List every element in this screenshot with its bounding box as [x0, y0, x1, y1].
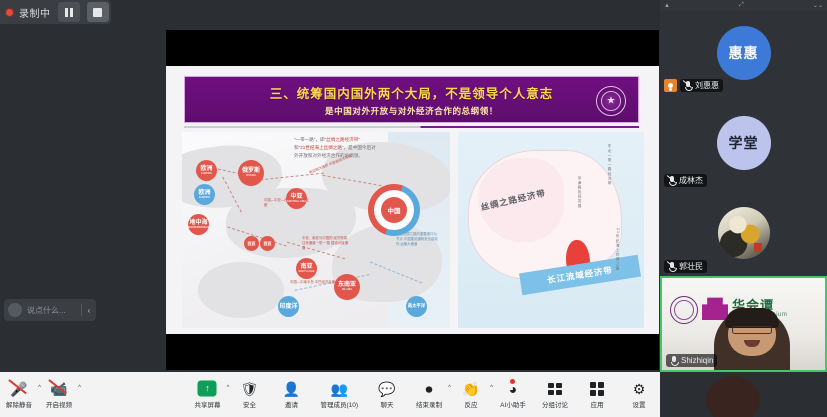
banner-underline: [184, 126, 639, 128]
participant-nameplate: Shizhiqin: [666, 354, 717, 367]
participant-name: 刘惠惠: [695, 80, 719, 91]
chat-button[interactable]: 💬 聊天: [374, 380, 400, 409]
chat-placeholder[interactable]: 说点什么...: [27, 305, 81, 316]
map-node-label: 南太平洋: [408, 304, 426, 308]
university-seal-icon: [670, 296, 698, 324]
shield-icon: 🛡: [241, 380, 259, 397]
participant-nameplate: 成林杰: [664, 174, 707, 187]
slide-body: “一带一路”，即“丝绸之路经济带” 和“21世纪海上丝绸之路”，是中国今后对 外…: [166, 130, 659, 334]
map-node-sublabel: CENTRAL ASIA: [287, 201, 306, 204]
avatar: 惠惠: [717, 26, 771, 80]
toolbar-label: 聊天: [381, 399, 394, 409]
chevron-left-icon[interactable]: ‹: [82, 306, 96, 315]
microphone-icon: [670, 356, 678, 366]
map-node-sublabel: RUSSIA: [246, 175, 256, 178]
participant-tile[interactable]: 学堂 成林杰: [660, 95, 827, 190]
note-line2-highlight: “21世纪海上丝绸之路”: [299, 145, 344, 150]
note-line1-prefix: “一带一路”，即: [294, 137, 325, 142]
recording-label: 录制中: [19, 5, 51, 20]
map-node-sublabel: SOUTH ASIA: [299, 271, 315, 274]
rail-controls: ▲ ⤢ ⌄⌄: [660, 0, 827, 11]
participant-tile[interactable]: 郭壮民: [660, 190, 827, 276]
avatar-initials: 学堂: [729, 133, 759, 153]
map-node-russia: 俄罗斯 RUSSIA: [238, 160, 264, 186]
pause-recording-button[interactable]: [58, 2, 80, 22]
speaker-hair: [725, 308, 779, 328]
manage-participants-button[interactable]: 👥 管理成员(10): [320, 380, 358, 409]
recording-dot-icon: [5, 8, 14, 17]
microphone-muted-icon: [668, 262, 676, 272]
microphone-muted-icon: [668, 176, 676, 186]
map-node-west-asia-a: 西亚: [244, 236, 259, 251]
toolbar-center-group: 共享屏幕 ^ 🛡 安全 👤 邀请 👥 管理成员(10) 💬 聊天 ⏺: [72, 380, 660, 409]
map-node-southeast-asia: 东南亚 SE ASIA: [334, 274, 360, 300]
active-speaker-tile[interactable]: 华会谭 ghua Symposium Shizhiqin: [660, 276, 827, 372]
map-node-label: 地中海: [189, 220, 207, 226]
apps-button[interactable]: 应用: [584, 380, 610, 409]
chevron-up-icon[interactable]: ^: [38, 385, 41, 391]
map-node-europe-sea: 欧洲 EUROPE: [194, 184, 215, 205]
participant-name: Shizhiqin: [681, 356, 713, 365]
toolbar-label: AI小助手: [500, 399, 526, 409]
invite-button[interactable]: 👤 邀请: [278, 380, 304, 409]
settings-button[interactable]: ⚙ 设置: [626, 380, 652, 409]
slide-subtitle: 是中国对外开放与对外经济合作的总纲领！: [325, 105, 498, 117]
map-node-label: 欧洲: [198, 190, 210, 196]
map-node-label: 中国: [388, 205, 401, 215]
stop-recording-button[interactable]: ⏺ 结束录制 ^: [416, 380, 442, 409]
vertical-label-maritime: 21世纪海上丝绸之路: [616, 228, 621, 271]
speaker-glasses: [732, 326, 772, 334]
host-badge-icon: [664, 79, 677, 92]
chevron-up-icon[interactable]: ^: [227, 385, 230, 391]
ai-assistant-button[interactable]: ◕ AI小助手: [500, 380, 526, 409]
map-node-label: 中亚: [290, 194, 302, 200]
start-video-button[interactable]: 📹 开启视频 ^: [46, 380, 72, 409]
avatar: [706, 376, 760, 417]
toolbar-label: 管理成员(10): [320, 399, 358, 409]
video-camera-muted-icon: 📹: [50, 380, 67, 397]
toolbar-label: 共享屏幕: [194, 399, 220, 409]
route-label: 中亚、南亚与中国的 经济贸易往来通道一带 一路 建设对接通道: [302, 236, 348, 251]
map-node-sublabel: EUROPE: [199, 197, 210, 200]
toolbar-left-group: 🎤 解除静音 ^ 📹 开启视频 ^: [0, 380, 72, 409]
note-line2-suffix: ，是中国今后对: [344, 145, 376, 150]
participant-rail: ▲ ⤢ ⌄⌄ 惠惠 刘惠惠 学堂 成林杰: [660, 0, 827, 372]
unmute-button[interactable]: 🎤 解除静音 ^: [6, 380, 32, 409]
world-map-infographic: “一带一路”，即“丝绸之路经济带” 和“21世纪海上丝绸之路”，是中国今后对 外…: [182, 132, 450, 328]
map-node-mediterranean: 地中海 MEDITERRANEAN: [188, 214, 209, 235]
china-map-image: 丝绸之路经济带 长江流域经济带 京津冀协同发展 东北一带一路经济带 21世纪海上…: [458, 132, 644, 328]
ai-assistant-icon: ◕: [509, 380, 517, 397]
map-node-sublabel: MEDITERRANEAN: [187, 227, 210, 230]
map-node-label: 西亚: [248, 242, 256, 246]
map-node-south-pacific: 南太平洋: [406, 296, 427, 317]
stop-recording-icon: ⏺: [426, 380, 433, 397]
view-toggle-icon[interactable]: ⤢: [739, 2, 744, 9]
apps-grid-icon: [590, 380, 604, 397]
participant-name: 成林杰: [679, 175, 703, 186]
pause-icon: [65, 8, 73, 17]
toolbar-label: 分组讨论: [542, 399, 568, 409]
map-node-label: 印度洋: [279, 304, 297, 310]
map-node-sublabel: EUROPE: [201, 173, 212, 176]
toolbar-label: 反应: [465, 399, 478, 409]
participant-tile[interactable]: 惠惠 刘惠惠: [660, 11, 827, 95]
map-node-china-ring: 中国: [368, 184, 420, 236]
note-line1-highlight: “丝绸之路经济带”: [325, 137, 360, 142]
vertical-label-jingjinji: 京津冀协同发展: [578, 176, 583, 208]
avatar-initials: 惠惠: [729, 43, 759, 63]
quick-chat-input[interactable]: 说点什么... ‹: [4, 299, 96, 321]
participant-nameplate: 刘惠惠: [680, 79, 723, 92]
map-node-west-asia-b: 西亚: [260, 236, 275, 251]
chevron-up-icon[interactable]: ^: [78, 385, 81, 391]
map-node-label: 南亚: [300, 264, 312, 270]
meeting-toolbar: 🎤 解除静音 ^ 📹 开启视频 ^ 共享屏幕 ^ 🛡 安全: [0, 372, 660, 417]
recording-indicator: 录制中: [0, 0, 111, 24]
microphone-muted-icon: 🎤: [10, 380, 27, 397]
stop-recording-button[interactable]: [87, 2, 109, 22]
gate-logo-icon: [702, 294, 728, 320]
toolbar-label: 设置: [633, 399, 646, 409]
stop-icon: [93, 8, 102, 17]
presentation-slide: 三、统筹国内国外两个大局，不是领导个人意志 是中国对外开放与对外经济合作的总纲领…: [166, 66, 659, 334]
participant-name: 郭壮民: [679, 261, 703, 272]
microphone-muted-icon: [684, 81, 692, 91]
share-screen-icon: [199, 380, 215, 397]
toolbar-label: 结束录制: [416, 399, 442, 409]
route-label: 中国—中南半岛 中巴经济走廊: [290, 280, 336, 285]
avatar: 学堂: [717, 116, 771, 170]
slide-banner: 三、统筹国内国外两个大局，不是领导个人意志 是中国对外开放与对外经济合作的总纲领…: [184, 76, 639, 123]
share-screen-button[interactable]: 共享屏幕 ^: [194, 380, 220, 409]
map-node-china: 中国: [381, 197, 407, 223]
main-stage: 三、统筹国内国外两个大局，不是领导个人意志 是中国对外开放与对外经济合作的总纲领…: [0, 0, 660, 372]
vertical-label-northeast: 东北一带一路经济带: [608, 144, 613, 185]
map-node-label: 欧洲: [200, 166, 212, 172]
avatar-icon: [8, 303, 22, 317]
settings-gear-icon: ⚙: [633, 380, 646, 397]
slide-title: 三、统筹国内国外两个大局，不是领导个人意志: [270, 83, 554, 102]
toolbar-label: 解除静音: [6, 399, 32, 409]
invite-person-icon: 👤: [283, 380, 300, 397]
reactions-button[interactable]: 👏 反应 ^: [458, 380, 484, 409]
toolbar-label: 应用: [591, 399, 604, 409]
security-button[interactable]: 🛡 安全: [236, 380, 262, 409]
map-node-indian-ocean: 印度洋: [278, 296, 299, 317]
chevron-collapse-icon[interactable]: ⌄⌄: [813, 2, 823, 9]
chevron-up-icon[interactable]: ^: [448, 385, 451, 391]
manage-participants-icon: 👥: [331, 380, 348, 397]
toolbar-label: 安全: [243, 399, 256, 409]
university-seal-icon: ★: [596, 86, 626, 116]
map-node-europe: 欧洲 EUROPE: [196, 160, 217, 181]
map-node-central-asia: 中亚 CENTRAL ASIA: [286, 188, 307, 209]
participant-nameplate: 郭壮民: [664, 260, 707, 273]
shared-screen-area[interactable]: 三、统筹国内国外两个大局，不是领导个人意志 是中国对外开放与对外经济合作的总纲领…: [166, 30, 659, 370]
meeting-window: 录制中 三、统筹国内国外两个大局，不是领导个人意志 是中国对外开放与对外经济合作…: [0, 0, 827, 417]
reactions-icon: 👏: [462, 380, 479, 397]
toolbar-label: 邀请: [285, 399, 298, 409]
map-node-sublabel: SE ASIA: [342, 289, 352, 292]
toolbar-label: 开启视频: [46, 399, 72, 409]
breakout-rooms-icon: [548, 380, 562, 397]
chevron-up-icon[interactable]: ^: [490, 385, 493, 391]
avatar: [718, 207, 770, 259]
landmass-shape: [198, 262, 284, 318]
breakout-rooms-button[interactable]: 分组讨论: [542, 380, 568, 409]
map-node-label: 西亚: [264, 242, 272, 246]
yangtze-belt-label: 长江流域经济带: [546, 264, 614, 286]
participant-tile-partial[interactable]: [660, 372, 827, 417]
scroll-up-icon[interactable]: ▲: [664, 3, 670, 9]
slide-note-text: “一带一路”，即“丝绸之路经济带” 和“21世纪海上丝绸之路”，是中国今后对 外…: [294, 136, 444, 160]
chat-bubble-icon: 💬: [378, 380, 395, 397]
map-node-south-asia: 南亚 SOUTH ASIA: [296, 258, 317, 279]
